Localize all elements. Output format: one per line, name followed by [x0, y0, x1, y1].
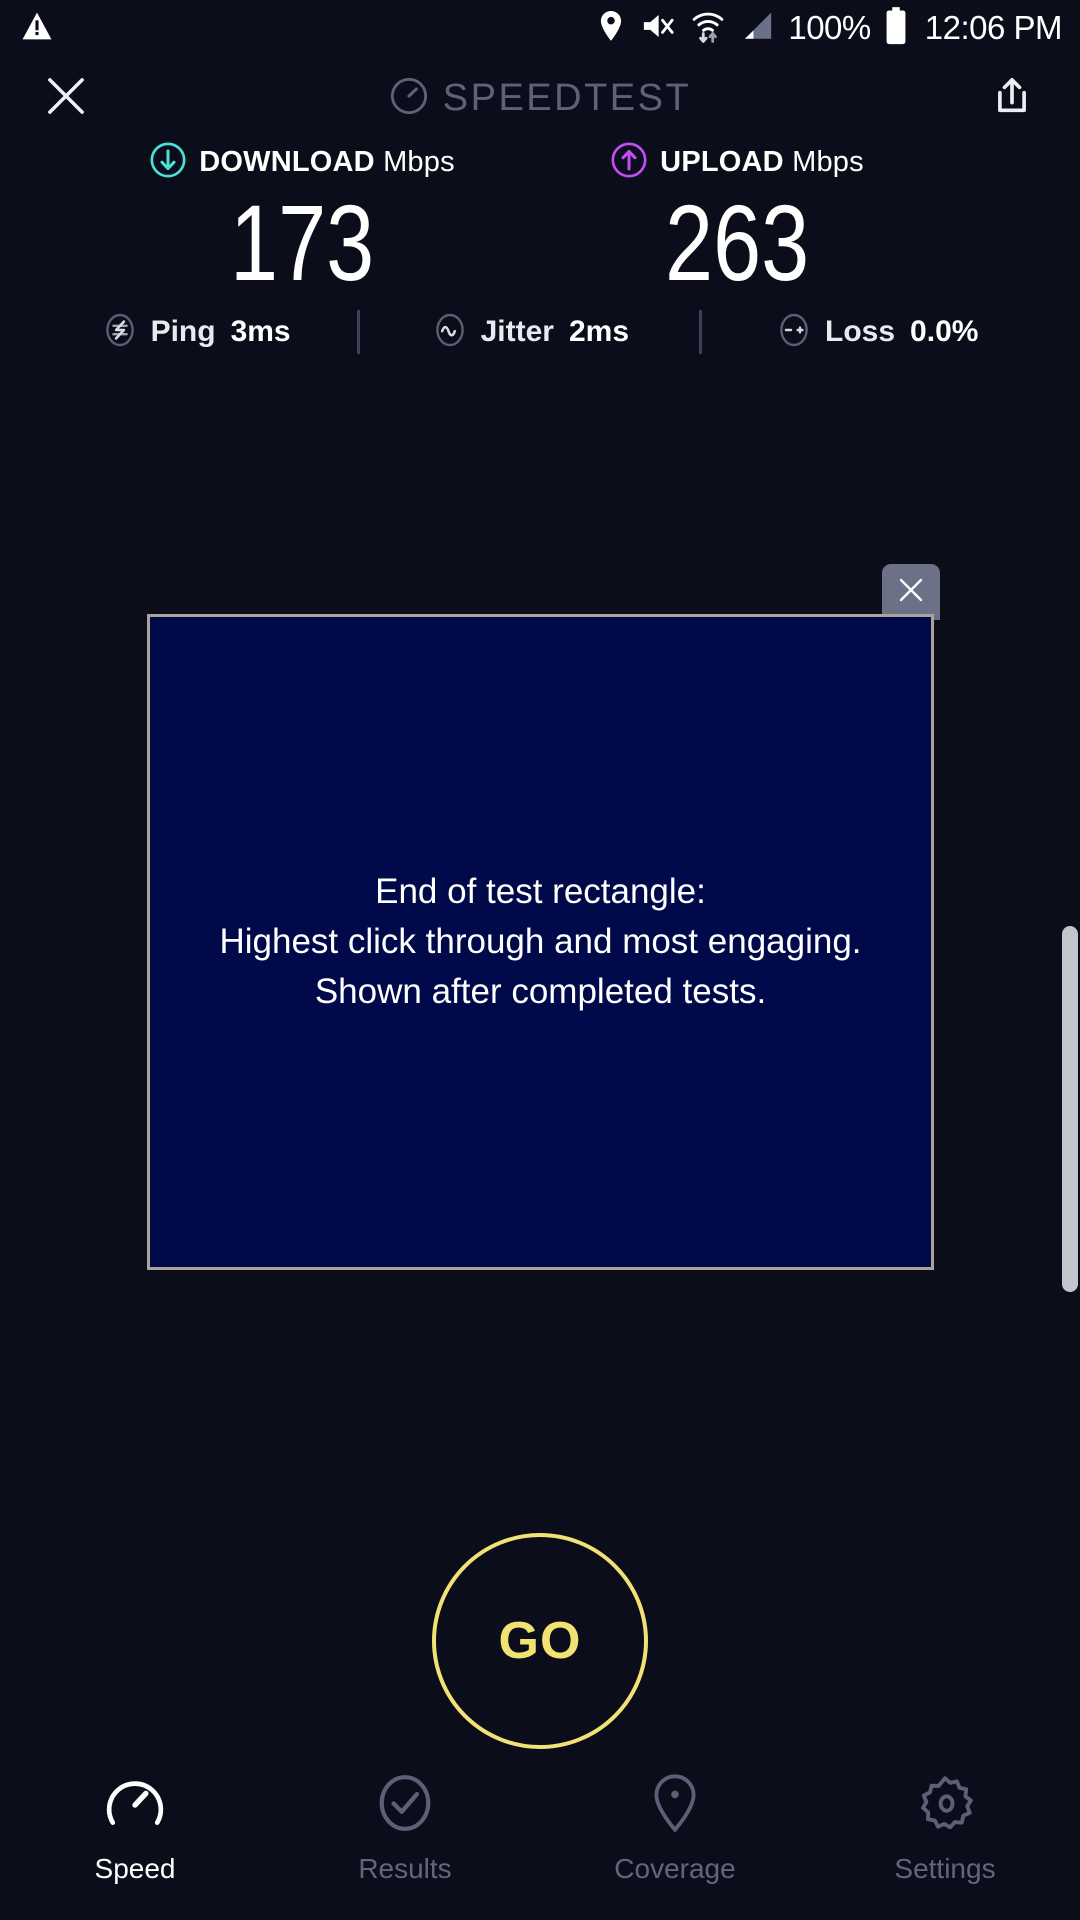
advertisement-banner[interactable]: End of test rectangle: Highest click thr… — [147, 614, 934, 1270]
metric-loss-label: Loss — [825, 315, 895, 349]
nav-item-results[interactable]: Results — [270, 1772, 540, 1885]
jitter-icon — [432, 312, 468, 353]
status-bar: 100% 12:06 PM — [0, 0, 1080, 56]
map-pin-icon — [644, 1772, 706, 1839]
status-bar-right: 100% 12:06 PM — [596, 7, 1062, 50]
warning-triangle-icon — [20, 9, 54, 48]
metric-jitter-label: Jitter — [481, 315, 554, 349]
connection-metrics: Ping 3ms Jitter 2ms — [0, 302, 1080, 362]
download-arrow-icon — [149, 141, 187, 184]
download-label: DOWNLOAD Mbps — [199, 146, 455, 179]
bottom-navigation: Speed Results Coverage — [0, 1760, 1080, 1920]
close-button[interactable] — [38, 70, 94, 126]
status-bar-left — [20, 9, 54, 48]
page-title: SPEEDTEST — [443, 77, 691, 120]
cell-signal-icon — [740, 10, 774, 47]
speed-results: DOWNLOAD Mbps 173 UPLOAD Mbps 263 — [0, 140, 1080, 298]
app-header: SPEEDTEST — [0, 56, 1080, 140]
metric-ping-label: Ping — [151, 315, 216, 349]
go-button[interactable]: GO — [432, 1533, 648, 1749]
upload-value: 263 — [665, 188, 809, 298]
volume-mute-icon — [640, 9, 676, 48]
gear-icon — [914, 1772, 976, 1839]
metric-divider-2 — [699, 310, 702, 354]
vertical-scrollbar[interactable] — [1062, 926, 1078, 1292]
clock-label: 12:06 PM — [925, 9, 1062, 47]
speedometer-icon — [104, 1772, 166, 1839]
nav-item-settings-label: Settings — [894, 1853, 995, 1885]
metric-ping: Ping 3ms — [102, 312, 291, 353]
ad-text: End of test rectangle: Highest click thr… — [219, 867, 861, 1016]
metric-jitter-value: 2ms — [569, 315, 629, 349]
metric-divider-1 — [357, 310, 360, 354]
share-button[interactable] — [984, 70, 1040, 126]
download-result: DOWNLOAD Mbps 173 — [110, 140, 540, 298]
upload-label: UPLOAD Mbps — [660, 146, 864, 179]
close-icon — [44, 74, 88, 123]
nav-item-settings[interactable]: Settings — [810, 1772, 1080, 1885]
ad-line-1: End of test rectangle: — [219, 867, 861, 917]
metric-loss-value: 0.0% — [910, 315, 978, 349]
check-circle-icon — [374, 1772, 436, 1839]
download-value: 173 — [230, 188, 374, 298]
nav-item-results-label: Results — [358, 1853, 451, 1885]
metric-loss: Loss 0.0% — [776, 312, 978, 353]
metric-jitter: Jitter 2ms — [432, 312, 629, 353]
nav-item-speed[interactable]: Speed — [0, 1772, 270, 1885]
speedtest-app-screen: 100% 12:06 PM SPEEDTEST — [0, 0, 1080, 1920]
nav-item-speed-label: Speed — [95, 1853, 176, 1885]
ad-line-2: Highest click through and most engaging. — [219, 917, 861, 967]
location-pin-icon — [596, 9, 626, 48]
wifi-transfer-icon — [690, 8, 726, 49]
share-icon — [990, 74, 1034, 123]
ad-close-button[interactable] — [882, 564, 940, 620]
go-button-label: GO — [499, 1611, 582, 1671]
nav-item-coverage[interactable]: Coverage — [540, 1772, 810, 1885]
ping-icon — [102, 312, 138, 353]
ad-line-3: Shown after completed tests. — [219, 967, 861, 1017]
ad-close-icon — [896, 575, 926, 610]
battery-percent-label: 100% — [788, 9, 870, 47]
speedometer-icon — [389, 76, 429, 121]
app-logo: SPEEDTEST — [389, 76, 691, 121]
upload-arrow-icon — [610, 141, 648, 184]
metric-ping-value: 3ms — [231, 315, 291, 349]
battery-full-icon — [885, 7, 907, 50]
upload-result: UPLOAD Mbps 263 — [540, 140, 970, 298]
loss-icon — [776, 312, 812, 353]
nav-item-coverage-label: Coverage — [614, 1853, 735, 1885]
